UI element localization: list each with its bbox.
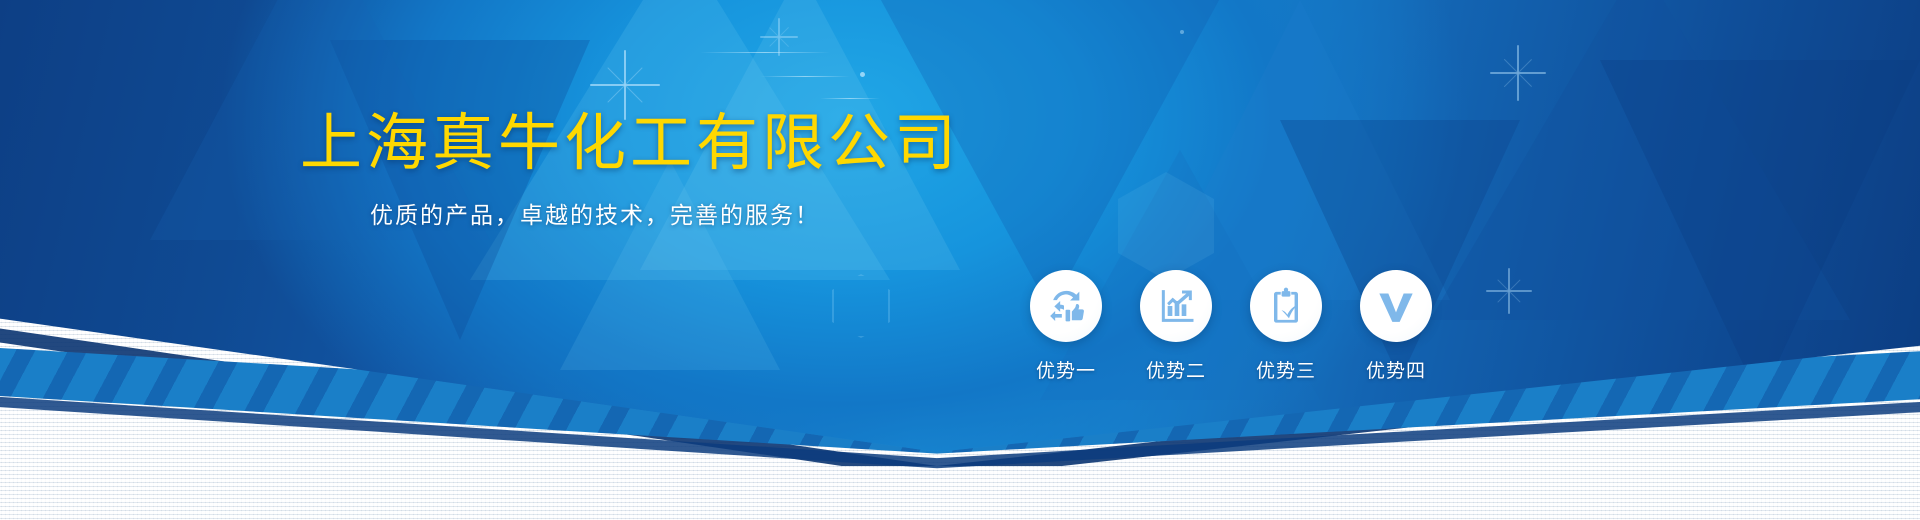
- advantage-item-2[interactable]: 优势二: [1140, 270, 1212, 383]
- accent-line: [760, 76, 850, 77]
- advantage-item-1[interactable]: 优势一: [1030, 270, 1102, 383]
- advantage-label: 优势二: [1146, 356, 1206, 383]
- advantage-item-3[interactable]: 优势三: [1250, 270, 1322, 383]
- advantage-label: 优势一: [1036, 356, 1096, 383]
- clipboard-check-icon: [1266, 286, 1306, 326]
- advantage-icon-badge: [1250, 270, 1322, 342]
- letter-v-icon: [1376, 286, 1416, 326]
- page-title: 上海真牛化工有限公司: [300, 92, 960, 182]
- facet-triangle: [560, 160, 780, 370]
- accent-dot: [1180, 30, 1184, 34]
- advantages-list: 优势一 优势二: [1030, 270, 1432, 383]
- advantage-label: 优势三: [1256, 356, 1316, 383]
- advantage-label: 优势四: [1366, 356, 1426, 383]
- company-hero-banner: 上海真牛化工有限公司 优质的产品，卓越的技术，完善的服务！ 优势一: [0, 0, 1920, 520]
- facet-triangle: [1600, 60, 1920, 400]
- page-subtitle: 优质的产品，卓越的技术，完善的服务！: [370, 196, 820, 230]
- advantage-icon-badge: [1360, 270, 1432, 342]
- bar-chart-growth-icon: [1156, 286, 1196, 326]
- advantage-icon-badge: [1140, 270, 1212, 342]
- advantage-icon-badge: [1030, 270, 1102, 342]
- accent-dot: [860, 72, 865, 77]
- advantage-item-4[interactable]: 优势四: [1360, 270, 1432, 383]
- accent-line: [700, 52, 830, 53]
- refresh-thumbs-up-icon: [1046, 286, 1086, 326]
